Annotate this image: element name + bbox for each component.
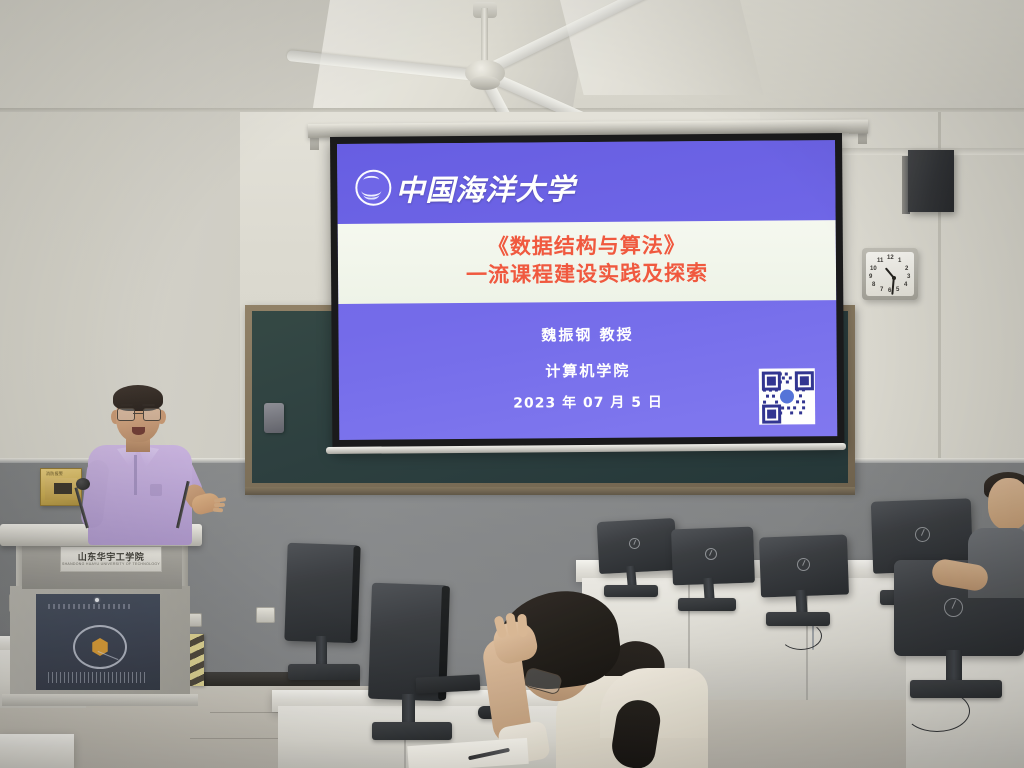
keyboard[interactable] xyxy=(416,674,481,693)
monitor-cable xyxy=(904,690,970,732)
chalkboard-tray xyxy=(245,487,855,495)
presenter-finger xyxy=(213,508,223,513)
emblem-wave xyxy=(363,190,379,200)
wall-clock: 12 1 2 3 4 5 6 7 8 9 10 11 xyxy=(862,248,918,300)
clock-minute-hand xyxy=(892,278,895,295)
wall-speaker xyxy=(908,150,954,212)
alarm-box-switch xyxy=(54,483,72,494)
podium-nameplate: 山东华宇工学院 SHANDONG HUAYU UNIVERSITY OF TEC… xyxy=(60,546,162,572)
podium-indicator-light xyxy=(95,598,99,602)
presenter-finger xyxy=(214,503,225,508)
podium-vent-grill xyxy=(48,672,148,683)
emblem-arc xyxy=(363,176,379,185)
floor-door-wedge xyxy=(190,634,204,686)
slide-header-band: 中国海洋大学 xyxy=(337,140,836,224)
dell-logo-icon xyxy=(944,598,963,617)
slide-title: 《数据结构与算法》 一流课程建设实践及探索 xyxy=(338,230,836,291)
presenter-shirt-pocket xyxy=(150,484,162,496)
clock-center-pin xyxy=(892,276,896,280)
presenter-eyebrow xyxy=(120,404,133,406)
presenter-shirt-placket xyxy=(134,455,137,495)
monitor-base xyxy=(604,585,658,597)
dell-logo-icon xyxy=(915,527,930,542)
university-name: 中国海洋大学 xyxy=(395,166,575,209)
lecture-hall-photo: 12 1 2 3 4 5 6 7 8 9 10 11 消防报警 xyxy=(0,0,1024,768)
presenter-eyebrow xyxy=(142,404,155,406)
qr-code xyxy=(759,368,815,424)
dell-logo-icon xyxy=(705,548,717,560)
slide-title-line-2: 一流课程建设实践及探索 xyxy=(338,258,836,290)
huayu-institute-seal xyxy=(73,625,127,669)
monitor-base xyxy=(678,598,736,611)
clock-face: 12 1 2 3 4 5 6 7 8 9 10 11 xyxy=(866,252,914,296)
ceiling-shadow-panel xyxy=(0,0,330,118)
projected-slide: 中国海洋大学 《数据结构与算法》 一流课程建设实践及探索 魏振钢 教授 计算机学… xyxy=(337,140,837,440)
dell-logo-icon xyxy=(797,558,810,571)
student-right-head xyxy=(988,478,1024,530)
ocean-university-wave-emblem xyxy=(355,170,391,206)
left-desk-lower xyxy=(0,734,74,768)
glasses-lens xyxy=(117,408,135,421)
presenter-mouth xyxy=(132,427,145,435)
monitor-cable xyxy=(780,622,822,650)
fan-downrod xyxy=(481,8,488,66)
alarm-box-label: 消防报警 xyxy=(46,471,63,477)
student-finger xyxy=(517,614,528,638)
monitor-base xyxy=(288,664,360,680)
microphone-head xyxy=(76,478,90,490)
podium-base xyxy=(2,694,198,706)
monitor-base xyxy=(372,722,452,740)
eyeglasses-icon xyxy=(117,408,159,419)
wall-outlet[interactable] xyxy=(256,607,275,623)
slide-title-line-1: 《数据结构与算法》 xyxy=(338,230,836,262)
chalkboard-eraser[interactable] xyxy=(264,403,284,433)
podium-upper-grill xyxy=(48,604,132,609)
fan-hub-cap xyxy=(470,76,500,90)
slide-presenter: 魏振钢 教授 xyxy=(338,322,836,347)
podium-nameplate-en: SHANDONG HUAYU UNIVERSITY OF TECHNOLOGY xyxy=(61,562,161,566)
monitor-side-profile xyxy=(284,543,359,643)
glasses-lens xyxy=(143,408,161,421)
glasses-bridge xyxy=(133,413,143,414)
qr-center-logo xyxy=(778,387,796,405)
